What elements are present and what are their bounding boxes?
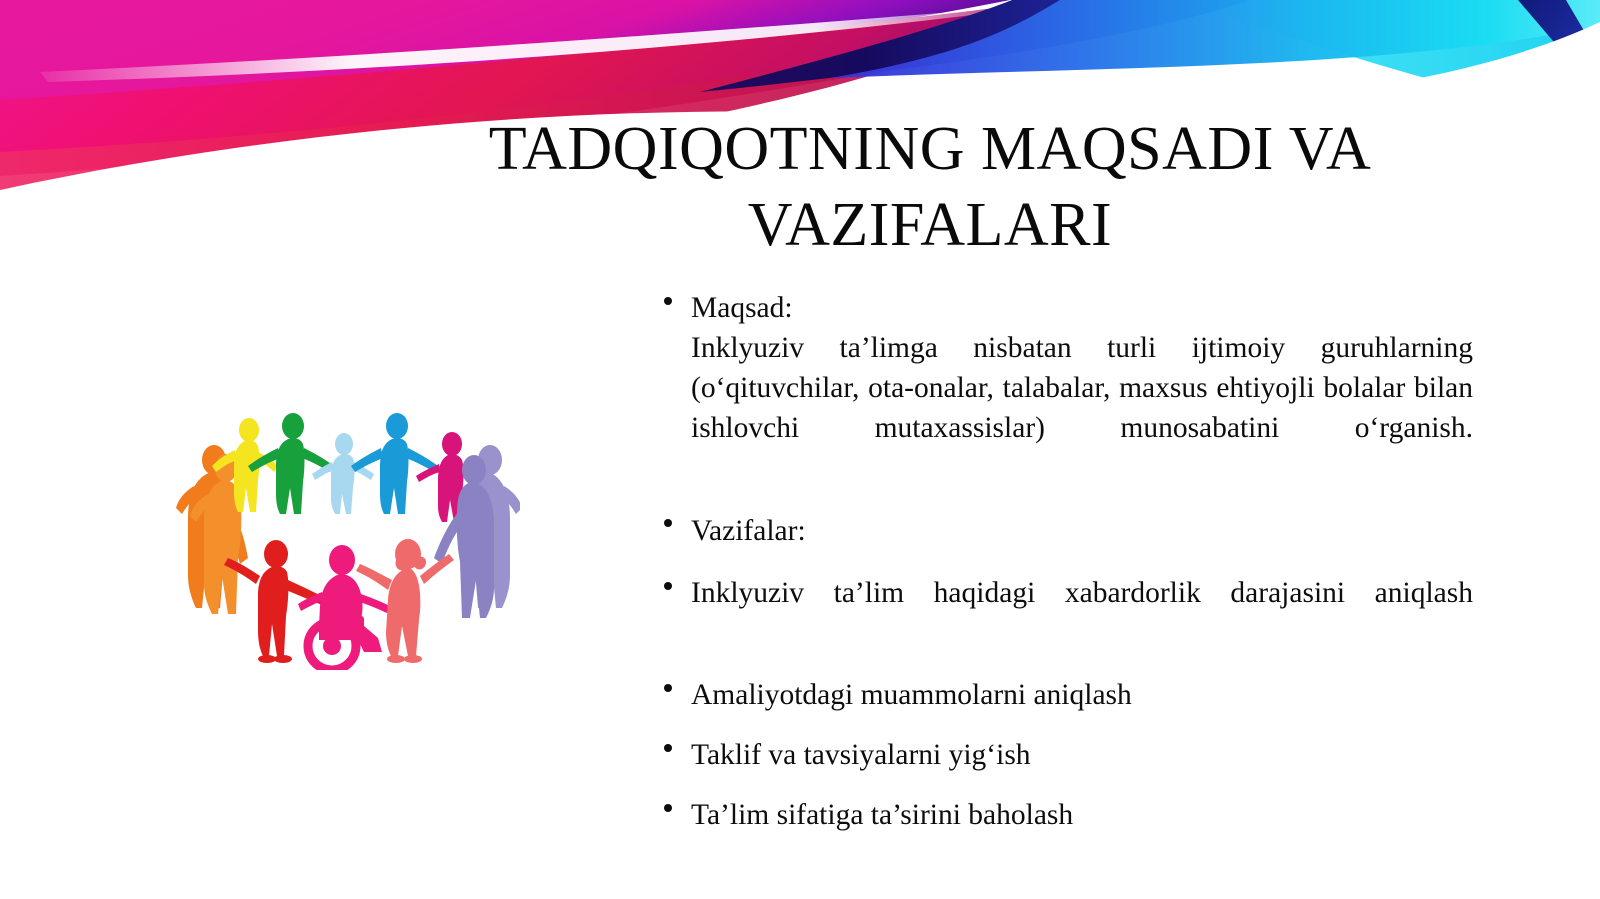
- wave-cyan-field: [1180, 0, 1600, 120]
- bullet-dot-icon: [664, 519, 672, 527]
- bullet-list: Maqsad: Inklyuziv ta’limga nisbatan turl…: [655, 288, 1473, 835]
- figure-lightblue-child: [312, 433, 374, 514]
- bullet-body-task-2: Amaliyotdagi muammolarni aniqlash: [691, 675, 1473, 715]
- bullet-dot-icon: [664, 582, 672, 590]
- presentation-slide: TADQIQOTNING MAQSADI VA VAZIFALARI: [0, 0, 1600, 899]
- bullet-body-maqsad: Inklyuziv ta’limga nisbatan turli ijtimo…: [691, 328, 1473, 488]
- bullet-item-maqsad: Maqsad: Inklyuziv ta’limga nisbatan turl…: [655, 288, 1473, 489]
- bullet-dot-icon: [664, 744, 672, 752]
- bullet-body-task-4: Ta’lim sifatiga ta’sirini baholash: [691, 795, 1473, 835]
- bullet-lead-maqsad: Maqsad:: [691, 288, 1473, 328]
- bullet-item-task-1: Inklyuziv ta’lim haqidagi xabardorlik da…: [655, 573, 1473, 653]
- bullet-item-task-2: Amaliyotdagi muammolarni aniqlash: [655, 675, 1473, 715]
- wave-dark-diagonal-stripe: [1518, 0, 1600, 96]
- bullet-item-task-3: Taklif va tavsiyalarni yig‘ish: [655, 735, 1473, 775]
- wave-white-streak: [40, 2, 1075, 82]
- bullet-body-task-1: Inklyuziv ta’lim haqidagi xabardorlik da…: [691, 573, 1473, 653]
- figure-blue-adult: [351, 413, 438, 514]
- inclusion-people-heart-icon: [168, 408, 520, 670]
- bullet-item-vazifalar: Vazifalar:: [655, 511, 1473, 551]
- bullet-body-task-3: Taklif va tavsiyalarni yig‘ish: [691, 735, 1473, 775]
- wave-navy-wedge: [700, 0, 1250, 92]
- bullet-lead-vazifalar: Vazifalar:: [691, 511, 1473, 551]
- bullet-dot-icon: [664, 804, 672, 812]
- figure-green-adult: [248, 413, 334, 514]
- inclusion-illustration-svg: [168, 408, 520, 670]
- bullet-dot-icon: [664, 297, 672, 305]
- wave-magenta-band: [0, 0, 1010, 112]
- page-title: TADQIQOTNING MAQSADI VA VAZIFALARI: [430, 112, 1430, 263]
- bullet-dot-icon: [664, 684, 672, 692]
- bullet-item-task-4: Ta’lim sifatiga ta’sirini baholash: [655, 795, 1473, 835]
- figure-pink-wheelchair-user: [298, 545, 390, 670]
- wave-blue-cyan-sweep: [830, 0, 1600, 78]
